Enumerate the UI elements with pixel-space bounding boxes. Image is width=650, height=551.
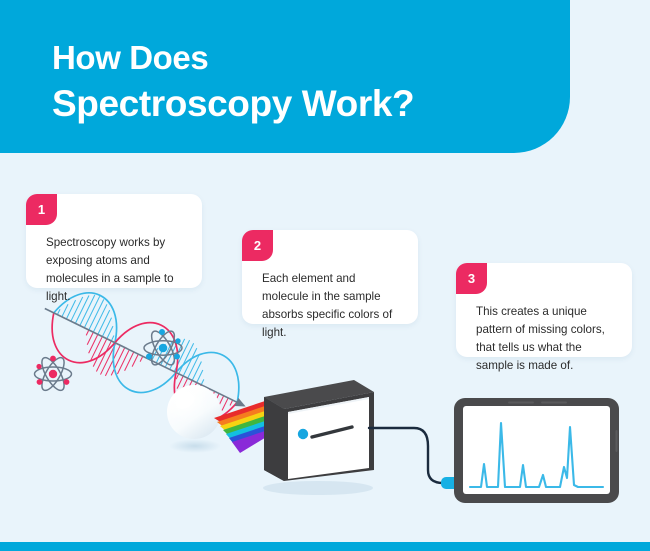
step-card-3: 3 This creates a unique pattern of missi… xyxy=(456,263,632,357)
step-text-1: Spectroscopy works by exposing atoms and… xyxy=(46,234,188,306)
step-card-1: 1 Spectroscopy works by exposing atoms a… xyxy=(26,194,202,288)
atom-pink-icon xyxy=(35,354,72,393)
wave-axis-arrow xyxy=(45,308,245,405)
data-cable xyxy=(369,428,456,483)
cable-plug xyxy=(441,477,459,489)
spectrometer-device xyxy=(263,380,374,495)
tablet-display xyxy=(454,398,619,503)
header-banner: How Does Spectroscopy Work? xyxy=(0,0,570,153)
device-indicator xyxy=(298,429,308,439)
step-badge-2: 2 xyxy=(242,230,273,261)
step-badge-1: 1 xyxy=(26,194,57,225)
step-badge-3: 3 xyxy=(456,263,487,294)
sample-sphere xyxy=(167,385,221,453)
bottom-accent-bar xyxy=(0,542,650,551)
spectrum-trace xyxy=(470,423,603,487)
step-text-2: Each element and molecule in the sample … xyxy=(262,270,404,342)
page-title: How Does Spectroscopy Work? xyxy=(52,36,552,128)
rainbow-beam xyxy=(214,400,268,453)
page-title-line-1: How Does xyxy=(52,36,552,80)
infographic-page: How Does Spectroscopy Work? xyxy=(0,0,650,551)
device-slot xyxy=(312,427,352,437)
step-text-3: This creates a unique pattern of missing… xyxy=(476,303,618,375)
page-title-line-2: Spectroscopy Work? xyxy=(52,80,552,129)
atom-blue-icon xyxy=(144,328,182,368)
step-card-2: 2 Each element and molecule in the sampl… xyxy=(242,230,418,324)
